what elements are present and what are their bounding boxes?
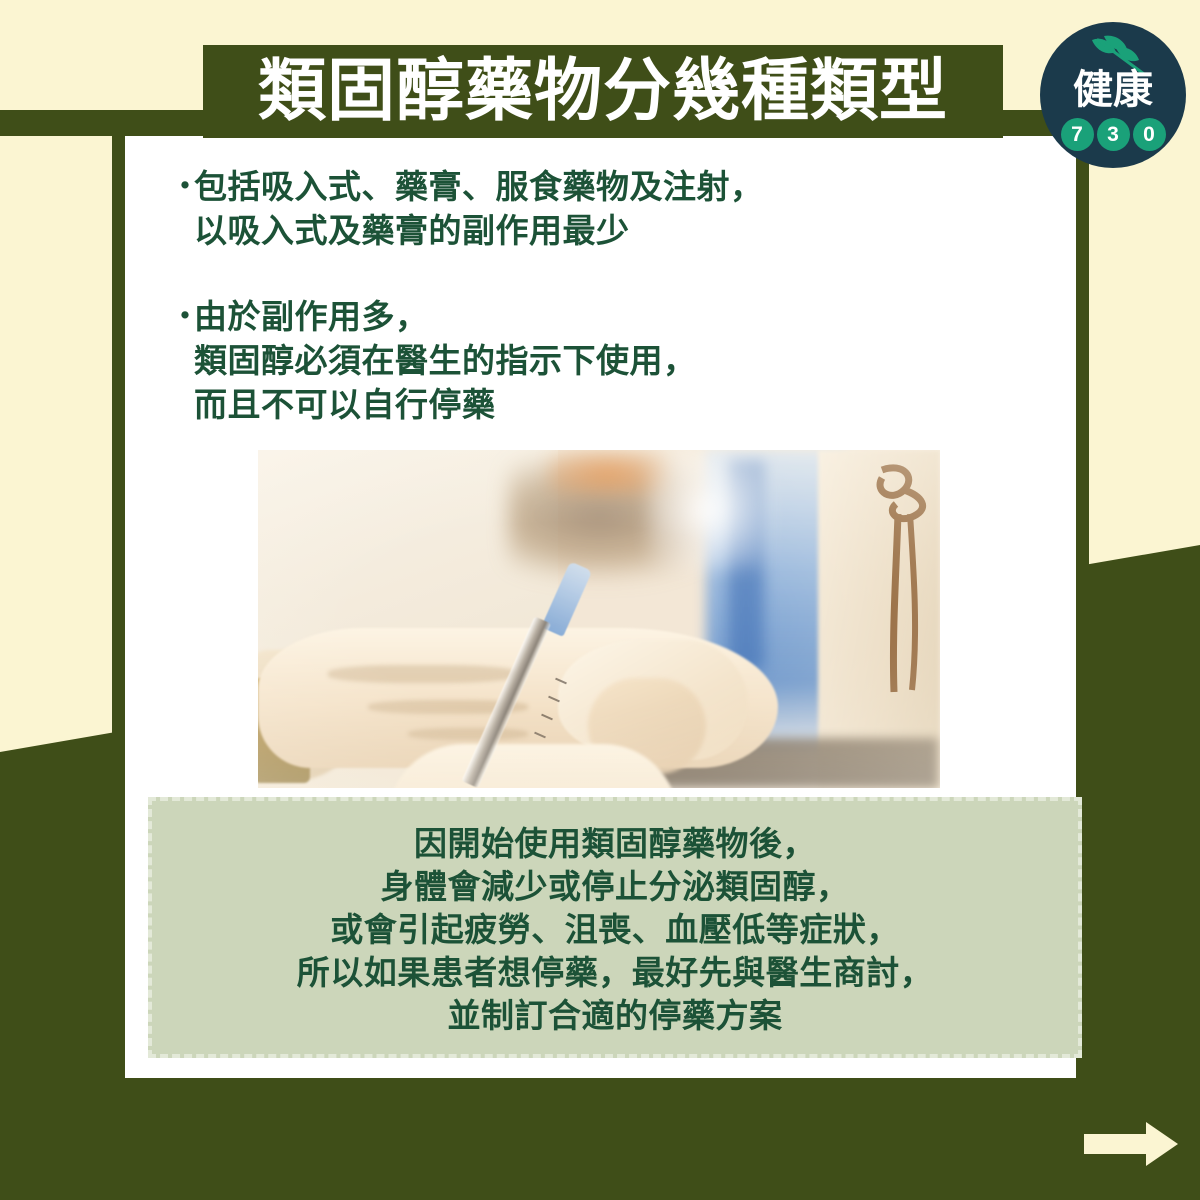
note-line: 或會引起疲勞、沮喪、血壓低等症狀，: [330, 908, 900, 951]
next-arrow-icon[interactable]: [1084, 1120, 1180, 1168]
note-box: 因開始使用類固醇藥物後， 身體會減少或停止分泌類固醇， 或會引起疲勞、沮喪、血壓…: [148, 797, 1082, 1058]
photo-glove-second-hand: [388, 744, 678, 788]
photo-glove-wrinkle: [408, 728, 528, 740]
photo-bg-highlight: [648, 450, 768, 570]
brand-digit-0: 0: [1133, 118, 1166, 151]
bullet-marker-icon: ・: [168, 165, 194, 209]
brand-digit-7: 7: [1061, 118, 1094, 151]
page-title: 類固醇藥物分幾種類型: [258, 58, 948, 126]
list-item: ・ 包括吸入式、藥膏、服食藥物及注射， 以吸入式及藥膏的副作用最少: [168, 165, 1048, 253]
bullet-line: 由於副作用多，: [194, 295, 1048, 339]
bullet-line: 包括吸入式、藥膏、服食藥物及注射，: [194, 165, 1048, 209]
list-item: ・ 由於副作用多， 類固醇必須在醫生的指示下使用， 而且不可以自行停藥: [168, 295, 1048, 427]
bullet-line: 類固醇必須在醫生的指示下使用，: [194, 339, 1048, 383]
photo-glove-wrinkle: [328, 665, 518, 683]
note-line: 並制訂合適的停藥方案: [448, 994, 783, 1037]
bullet-list: ・ 包括吸入式、藥膏、服食藥物及注射， 以吸入式及藥膏的副作用最少 ・ 由於副作…: [168, 165, 1048, 455]
photo-gown-tie: [852, 464, 940, 744]
syringe-photo: [258, 450, 940, 788]
bullet-line: 而且不可以自行停藥: [194, 383, 1048, 427]
brand-digit-3: 3: [1097, 118, 1130, 151]
bullet-marker-icon: ・: [168, 295, 194, 339]
note-line: 因開始使用類固醇藥物後，: [414, 822, 816, 865]
bullet-line: 以吸入式及藥膏的副作用最少: [194, 209, 1048, 253]
brand-name: 健康: [1040, 70, 1186, 110]
bullet-text: 由於副作用多， 類固醇必須在醫生的指示下使用， 而且不可以自行停藥: [194, 295, 1048, 427]
title-bar: 類固醇藥物分幾種類型: [203, 45, 1003, 138]
brand-logo-badge: 健康 7 3 0: [1040, 22, 1186, 168]
note-line: 身體會減少或停止分泌類固醇，: [381, 865, 850, 908]
brand-digits: 7 3 0: [1040, 118, 1186, 151]
note-line: 所以如果患者想停藥，最好先與醫生商討，: [297, 951, 934, 994]
bullet-text: 包括吸入式、藥膏、服食藥物及注射， 以吸入式及藥膏的副作用最少: [194, 165, 1048, 253]
